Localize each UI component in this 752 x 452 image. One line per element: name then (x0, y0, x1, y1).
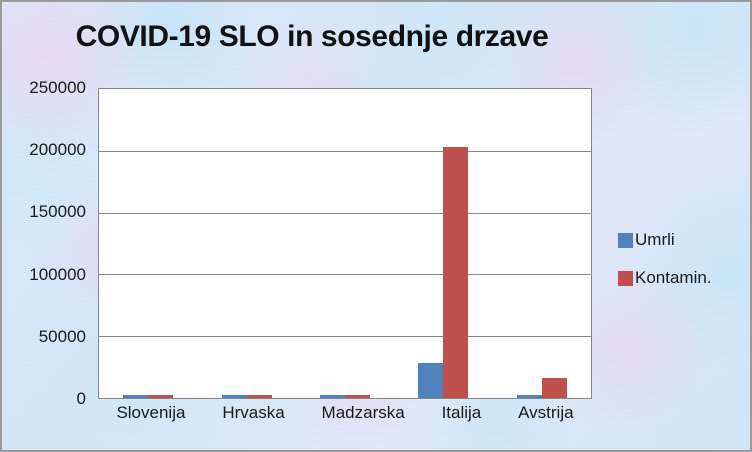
legend-item-label: Kontamin. (635, 268, 712, 288)
bar-madzarska-kontamin[interactable] (345, 395, 370, 398)
bar-group (222, 89, 272, 398)
bar-hrvaska-umrli[interactable] (222, 395, 247, 398)
chart-legend: Umrli Kontamin. (618, 230, 712, 306)
bar-group (517, 89, 567, 398)
legend-item-umrli[interactable]: Umrli (618, 230, 712, 250)
y-axis-tick-label: 250000 (29, 78, 86, 98)
bar-group (123, 89, 173, 398)
legend-swatch-icon (618, 271, 633, 286)
plot-area (98, 88, 592, 399)
bar-slovenija-kontamin[interactable] (148, 395, 173, 398)
bar-hrvaska-kontamin[interactable] (247, 395, 272, 398)
bar-slovenija-umrli[interactable] (123, 395, 148, 398)
y-axis-tick-label: 150000 (29, 202, 86, 222)
bar-avstrija-umrli[interactable] (517, 395, 542, 398)
chart-title: COVID-19 SLO in sosednje drzave (2, 20, 622, 54)
x-axis-label: Slovenija (116, 403, 185, 423)
bar-italija-umrli[interactable] (418, 363, 443, 398)
y-axis-tick-label: 50000 (39, 327, 86, 347)
legend-swatch-icon (618, 233, 633, 248)
legend-item-label: Umrli (635, 230, 675, 250)
x-axis-label: Italija (442, 403, 482, 423)
bar-madzarska-umrli[interactable] (320, 395, 345, 398)
y-axis-tick-label: 100000 (29, 265, 86, 285)
y-axis: 250000 200000 150000 100000 50000 0 (2, 88, 92, 399)
x-axis-label: Madzarska (322, 403, 405, 423)
bar-group (418, 89, 468, 398)
chart-container: COVID-19 SLO in sosednje drzave 250000 2… (0, 0, 752, 452)
x-axis-label: Avstrija (518, 403, 573, 423)
bar-avstrija-kontamin[interactable] (542, 378, 567, 398)
bar-group (320, 89, 370, 398)
x-axis: SlovenijaHrvaskaMadzarskaItalijaAvstrija (98, 403, 592, 423)
x-axis-label: Hrvaska (222, 403, 284, 423)
y-axis-tick-label: 0 (77, 389, 86, 409)
y-axis-tick-label: 200000 (29, 140, 86, 160)
legend-item-kontamin[interactable]: Kontamin. (618, 268, 712, 288)
bar-italija-kontamin[interactable] (443, 147, 468, 398)
bars-layer (99, 89, 591, 398)
